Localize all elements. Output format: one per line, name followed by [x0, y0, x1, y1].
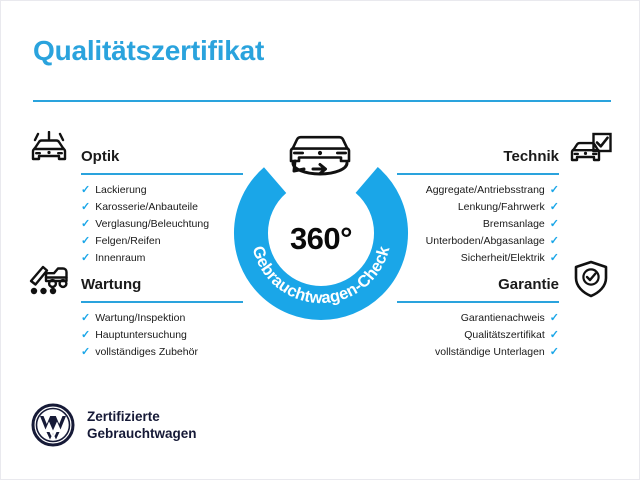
list-item-label: Aggregate/Antriebsstrang	[426, 185, 545, 196]
check-icon: ✓	[81, 347, 90, 358]
section-optik-divider	[81, 173, 243, 175]
section-garantie: Garantie Garantienachweis✓ Qualitätszert…	[397, 257, 619, 361]
badge-360-gebrauchtwagen-check: Gebrauchtwagen-Check 360°	[233, 121, 409, 321]
footer-brand-text: Zertifizierte Gebrauchtwagen	[87, 408, 197, 443]
check-icon: ✓	[81, 185, 90, 196]
section-optik-header: Optik	[21, 129, 243, 175]
badge-center-label: 360°	[233, 221, 409, 257]
section-wartung: Wartung ✓Wartung/Inspektion ✓Hauptunters…	[21, 257, 243, 361]
list-item-label: Karosserie/Anbauteile	[95, 202, 198, 213]
list-item: ✓Lackierung	[81, 182, 243, 199]
check-icon: ✓	[550, 330, 559, 341]
list-item: ✓Karosserie/Anbauteile	[81, 199, 243, 216]
section-technik-header: Technik	[397, 129, 619, 175]
list-item-label: Lackierung	[95, 185, 146, 196]
list-item-label: Bremsanlage	[483, 219, 545, 230]
section-wartung-title: Wartung	[81, 276, 141, 293]
list-item-label: Verglasung/Beleuchtung	[95, 219, 209, 230]
list-item-label: vollständige Unterlagen	[435, 347, 545, 358]
check-icon: ✓	[81, 236, 90, 247]
section-garantie-header: Garantie	[397, 257, 619, 303]
check-icon: ✓	[550, 219, 559, 230]
list-item-label: Qualitätszertifikat	[464, 330, 545, 341]
section-optik-title: Optik	[81, 148, 119, 165]
list-item: ✓Verglasung/Beleuchtung	[81, 216, 243, 233]
car-checkbox-icon	[565, 129, 617, 173]
list-item: Bremsanlage✓	[397, 216, 559, 233]
section-wartung-divider	[81, 301, 243, 303]
list-item-label: Hauptuntersuchung	[95, 330, 187, 341]
list-item: Aggregate/Antriebsstrang✓	[397, 182, 559, 199]
list-item: ✓vollständiges Zubehör	[81, 344, 243, 361]
check-icon: ✓	[550, 313, 559, 324]
check-icon: ✓	[81, 219, 90, 230]
section-optik-list: ✓Lackierung ✓Karosserie/Anbauteile ✓Verg…	[21, 175, 243, 267]
list-item: vollständige Unterlagen✓	[397, 344, 559, 361]
section-garantie-list: Garantienachweis✓ Qualitätszertifikat✓ v…	[397, 303, 619, 361]
list-item-label: Garantienachweis	[461, 313, 545, 324]
list-item: Lenkung/Fahrwerk✓	[397, 199, 559, 216]
list-item-label: Wartung/Inspektion	[95, 313, 185, 324]
list-item: Qualitätszertifikat✓	[397, 327, 559, 344]
check-icon: ✓	[550, 202, 559, 213]
check-icon: ✓	[81, 330, 90, 341]
footer-brand: Zertifizierte Gebrauchtwagen	[31, 403, 197, 447]
list-item: Garantienachweis✓	[397, 310, 559, 327]
section-technik-list: Aggregate/Antriebsstrang✓ Lenkung/Fahrwe…	[397, 175, 619, 267]
list-item: ✓Hauptuntersuchung	[81, 327, 243, 344]
shield-check-icon	[565, 257, 617, 301]
check-icon: ✓	[81, 313, 90, 324]
list-item: ✓Wartung/Inspektion	[81, 310, 243, 327]
list-item-label: vollständiges Zubehör	[95, 347, 198, 358]
car-polish-shine-icon	[23, 129, 75, 173]
list-item-label: Lenkung/Fahrwerk	[458, 202, 545, 213]
section-wartung-list: ✓Wartung/Inspektion ✓Hauptuntersuchung ✓…	[21, 303, 243, 361]
list-item: Unterboden/Abgasanlage✓	[397, 233, 559, 250]
list-item: ✓Felgen/Reifen	[81, 233, 243, 250]
footer-line-1: Zertifizierte	[87, 408, 197, 425]
section-wartung-header: Wartung	[21, 257, 243, 303]
section-garantie-divider	[397, 301, 559, 303]
page-title: Qualitätszertifikat	[33, 35, 264, 67]
footer-line-2: Gebrauchtwagen	[87, 425, 197, 442]
car-service-tool-icon	[23, 257, 75, 301]
section-garantie-title: Garantie	[498, 276, 559, 293]
check-icon: ✓	[550, 236, 559, 247]
section-technik-divider	[397, 173, 559, 175]
vw-logo-icon	[31, 403, 75, 447]
check-icon: ✓	[550, 185, 559, 196]
list-item-label: Felgen/Reifen	[95, 236, 160, 247]
list-item-label: Unterboden/Abgasanlage	[426, 236, 545, 247]
check-icon: ✓	[550, 347, 559, 358]
section-technik: Technik Aggregate/Antriebsstrang✓ Lenkun…	[397, 129, 619, 267]
section-optik: Optik ✓Lackierung ✓Karosserie/Anbauteile…	[21, 129, 243, 267]
section-technik-title: Technik	[503, 148, 559, 165]
title-divider	[33, 100, 611, 102]
check-icon: ✓	[81, 202, 90, 213]
qualitaetszertifikat-page: Qualitätszertifikat	[0, 0, 640, 480]
